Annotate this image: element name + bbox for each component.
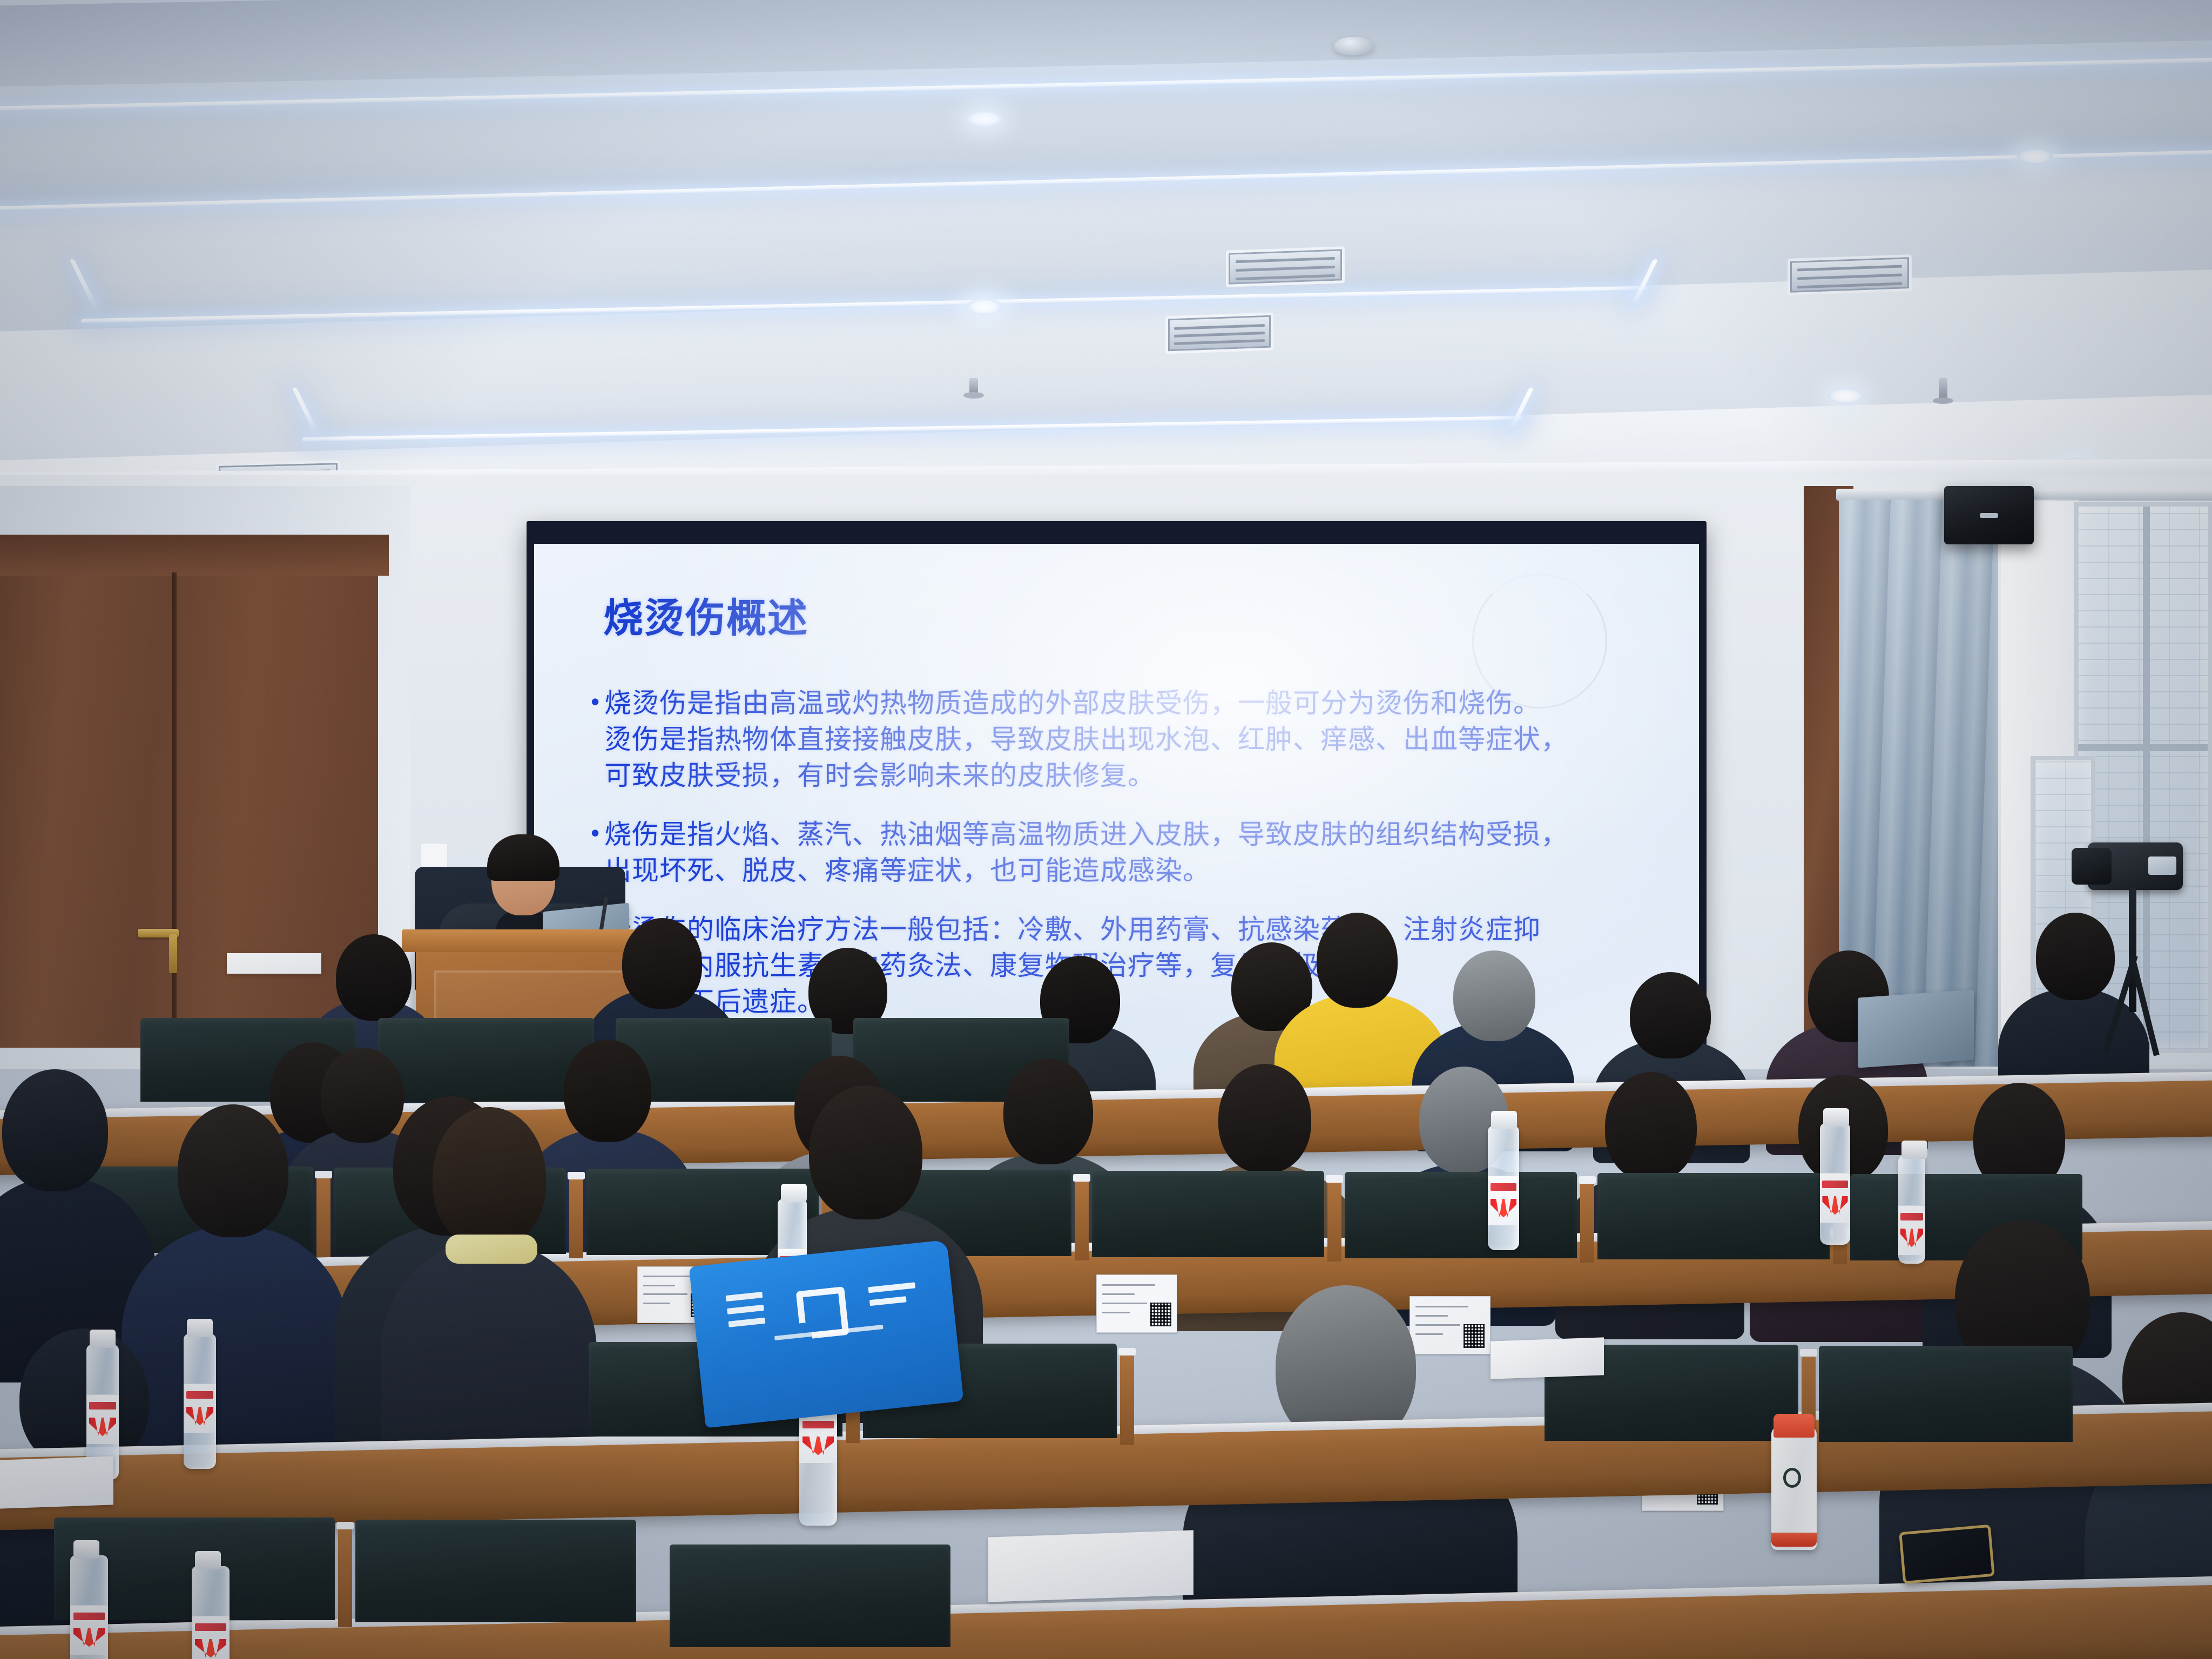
air-vent xyxy=(1788,254,1912,295)
seat-divider xyxy=(1327,1175,1341,1262)
camera-lens xyxy=(2072,848,2112,885)
door-handle[interactable] xyxy=(138,929,179,938)
slide-bullet: • 烧伤是指火焰、蒸汽、热油烟等高温物质进入皮肤，导致皮肤的组织结构受损， 出现… xyxy=(586,817,1661,889)
wall-mounted-loudspeaker xyxy=(1944,486,2034,544)
seat-divider xyxy=(1075,1174,1089,1260)
handout-paper xyxy=(988,1530,1193,1602)
slide-title: 烧烫伤概述 xyxy=(603,586,808,644)
seat-divider xyxy=(338,1522,352,1627)
water-bottle[interactable] xyxy=(1898,1156,1925,1264)
bullet-line: 烧伤是指火焰、蒸汽、热油烟等高温物质进入皮肤，导致皮肤的组织结构受损， xyxy=(604,819,1568,849)
ceiling-downlight xyxy=(967,299,1002,315)
bullet-text: 烧伤是指火焰、蒸汽、热油烟等高温物质进入皮肤，导致皮肤的组织结构受损， 出现坏死… xyxy=(604,817,1568,889)
handout-paper xyxy=(1491,1337,1604,1379)
seat-divider xyxy=(1580,1176,1594,1263)
camera-screen xyxy=(2148,857,2176,875)
ceiling-downlight xyxy=(2017,149,2053,165)
tripod-column xyxy=(2129,888,2136,1012)
water-bottle[interactable] xyxy=(70,1555,108,1659)
smartphone[interactable] xyxy=(1899,1525,1995,1584)
bullet-line: 可致皮肤受损，有时会影响未来的皮肤修复。 xyxy=(604,760,1155,791)
bullet-line: 烧烫伤是指由高温或灼热物质造成的外部皮肤受伤，一般可分为烫伤和烧伤。 xyxy=(604,688,1541,718)
yogurt-drink-bottle[interactable] xyxy=(1771,1426,1817,1550)
attendee-scarf xyxy=(381,1107,597,1453)
water-bottle[interactable] xyxy=(1820,1123,1850,1245)
camera-body xyxy=(2088,842,2183,890)
operator-laptop xyxy=(1858,989,1974,1068)
seat-back xyxy=(1345,1172,1577,1258)
seat-divider xyxy=(1120,1348,1134,1445)
bullet-line: 出现坏死、脱皮、疼痛等症状，也可能造成感染。 xyxy=(604,855,1210,886)
smoke-detector xyxy=(1334,37,1374,55)
sprinkler-head xyxy=(969,378,978,394)
handout-paper xyxy=(0,1456,113,1508)
water-bottle[interactable] xyxy=(1488,1126,1519,1250)
ceiling-downlight xyxy=(1828,388,1864,404)
seat-back xyxy=(355,1520,636,1622)
seat-qr-label xyxy=(1096,1274,1177,1333)
lecture-hall-scene: 烧烫伤概述 • 烧烫伤是指由高温或灼热物质造成的外部皮肤受伤，一般可分为烫伤和烧… xyxy=(0,0,2212,1659)
water-bottle[interactable] xyxy=(184,1334,216,1469)
sprinkler-head xyxy=(1939,378,1947,400)
seat-back xyxy=(1092,1171,1324,1257)
ceiling xyxy=(0,0,2212,518)
ceiling-downlight xyxy=(967,111,1002,127)
water-bottle[interactable] xyxy=(192,1566,230,1659)
bullet-marker: • xyxy=(586,685,604,794)
blue-tote-bag[interactable] xyxy=(689,1240,964,1428)
bullet-text: 烧烫伤是指由高温或灼热物质造成的外部皮肤受伤，一般可分为烫伤和烧伤。 烫伤是指热… xyxy=(604,685,1568,794)
slide-bullet: • 烧烫伤是指由高温或灼热物质造成的外部皮肤受伤，一般可分为烫伤和烧伤。 烫伤是… xyxy=(586,685,1661,794)
dslr-camera-on-tripod xyxy=(2068,842,2193,1015)
seat-back xyxy=(1819,1346,2073,1442)
bullet-line: 烫伤是指热物体直接接触皮肤，导致皮肤出现水泡、红肿、痒感、出血等症状， xyxy=(604,724,1568,754)
seat-back xyxy=(1597,1173,1830,1259)
air-vent xyxy=(1165,313,1273,354)
door-split-line xyxy=(172,572,177,1048)
scarf xyxy=(446,1235,537,1264)
air-vent xyxy=(1226,246,1345,287)
seat-back xyxy=(670,1545,950,1647)
